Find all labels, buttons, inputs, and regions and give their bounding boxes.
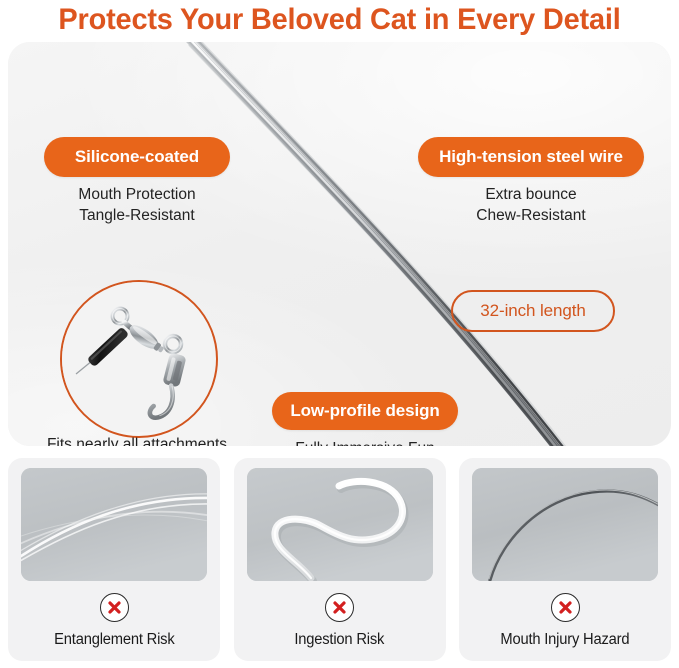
- circle-x-icon: [325, 593, 354, 622]
- page-title: Protects Your Beloved Cat in Every Detai…: [12, 0, 667, 39]
- feature-subtext-line: Extra bounce: [418, 184, 644, 205]
- feature-subtext-line: Fully Immersive Fun: [272, 438, 458, 446]
- thick-cord-loop-photo: [247, 468, 433, 581]
- bare-metal-wire-photo: [472, 468, 658, 581]
- thin-string-strands-photo: [21, 468, 207, 581]
- feature-pill-silicone-coated: Silicone-coated: [44, 137, 230, 177]
- risk-card-ingestion: Ingestion Risk: [234, 458, 446, 661]
- feature-pill-high-tension-steel-wire: High-tension steel wire: [418, 137, 644, 177]
- risk-card-label: Ingestion Risk: [295, 631, 385, 649]
- feature-pill-length: 32-inch length: [451, 290, 615, 332]
- circle-x-icon: [551, 593, 580, 622]
- feature-subtext-line: Tangle-Resistant: [44, 205, 230, 226]
- risk-card-mouth-injury: Mouth Injury Hazard: [459, 458, 671, 661]
- feature-subtext-line: Chew-Resistant: [418, 205, 644, 226]
- feature-subtext-steel-wire: Extra bounce Chew-Resistant: [418, 184, 644, 226]
- feature-pill-low-profile-design: Low-profile design: [272, 392, 458, 430]
- feature-subtext-silicone: Mouth Protection Tangle-Resistant: [44, 184, 230, 226]
- risk-card-label: Mouth Injury Hazard: [501, 631, 630, 649]
- detail-callout-caption: Fits nearly all attachments: [16, 436, 258, 446]
- risk-card-entanglement: Entanglement Risk: [8, 458, 220, 661]
- risk-card-label: Entanglement Risk: [54, 631, 174, 649]
- detail-callout-circle: [60, 280, 218, 438]
- swivel-clip-attachment-photo: [62, 282, 212, 432]
- risk-cards-row: Entanglement Risk: [0, 458, 679, 668]
- feature-subtext-line: Mouth Protection: [44, 184, 230, 205]
- hero-panel: Silicone-coated Mouth Protection Tangle-…: [8, 42, 671, 446]
- feature-subtext-low-profile: Fully Immersive Fun: [272, 438, 458, 446]
- circle-x-icon: [100, 593, 129, 622]
